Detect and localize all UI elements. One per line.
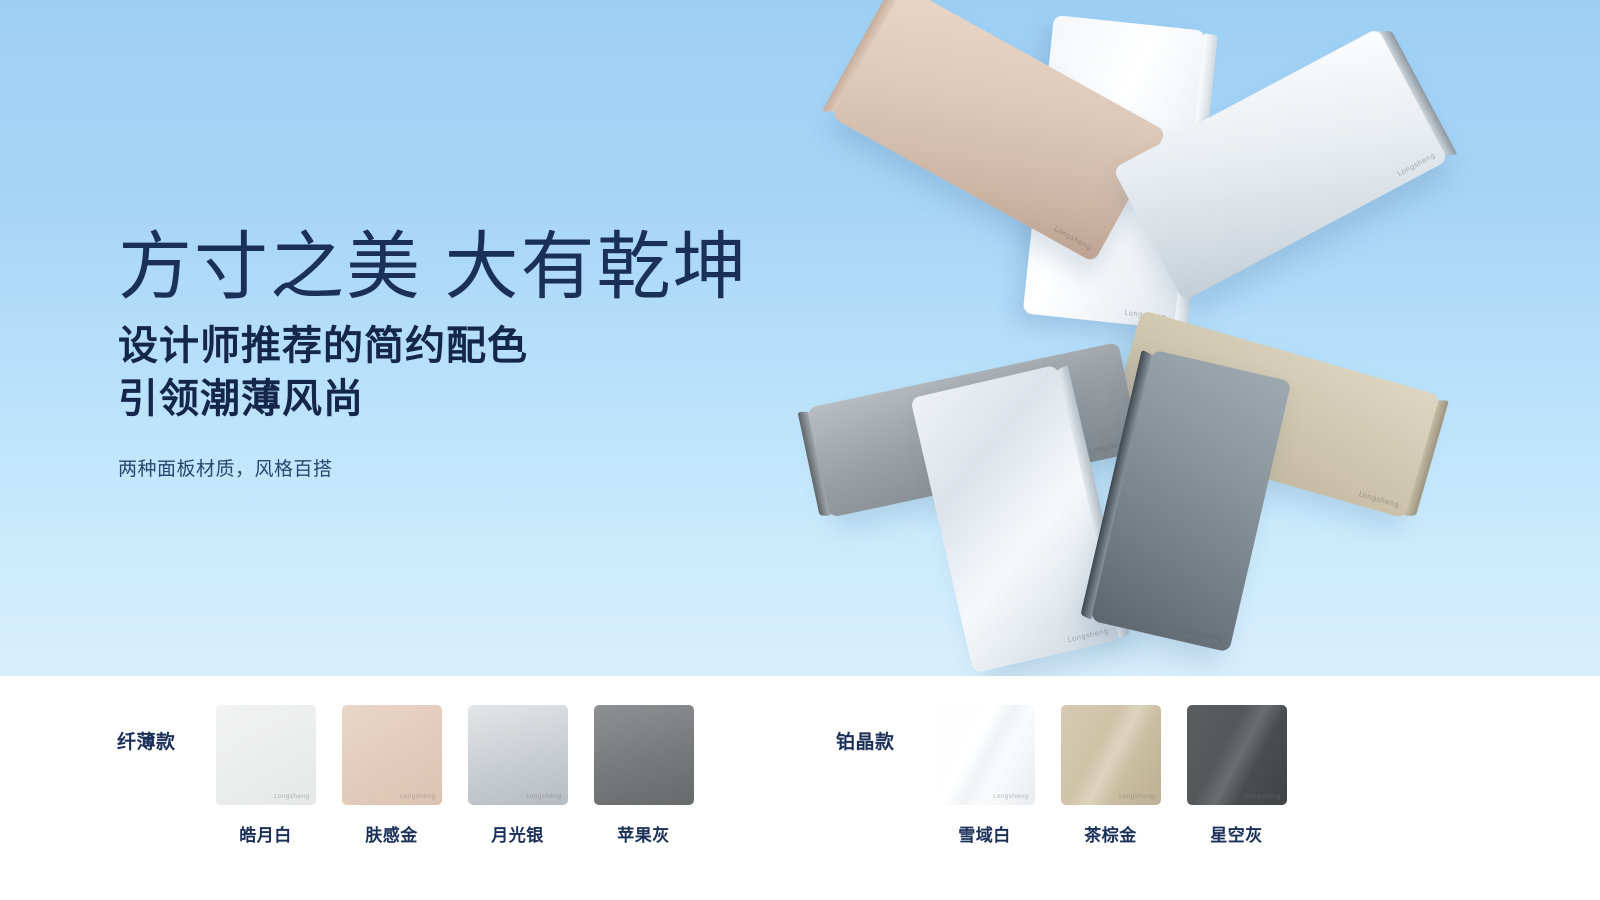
hero-section: 方寸之美 大有乾坤 设计师推荐的简约配色 引领潮薄风尚 两种面板材质，风格百搭 … [0,0,1600,676]
brand-watermark: Longsheng [1396,151,1437,178]
swatch-list: Longsheng雪域白Longsheng茶棕金Longsheng星空灰 [922,705,1300,846]
swatch-item[interactable]: Longsheng苹果灰 [581,705,707,846]
swatch-name: 苹果灰 [617,821,670,846]
color-swatch-strip: 纤薄款 Longsheng皓月白Longsheng肤感金Longsheng月光银… [0,676,1600,900]
product-pinwheel-image: Longsheng Longsheng Longsheng Longsheng [790,10,1490,670]
brand-watermark: Longsheng [652,793,687,800]
swatch-name: 月光银 [491,821,544,846]
product-banner: 方寸之美 大有乾坤 设计师推荐的简约配色 引领潮薄风尚 两种面板材质，风格百搭 … [0,0,1600,900]
swatch-item[interactable]: Longsheng皓月白 [203,705,329,846]
swatch-name: 星空灰 [1210,821,1263,846]
swatch-item[interactable]: Longsheng肤感金 [329,705,455,846]
swatch-list: Longsheng皓月白Longsheng肤感金Longsheng月光银Long… [203,705,707,846]
hero-subheading: 设计师推荐的简约配色 引领潮薄风尚 [118,320,878,426]
swatch-item[interactable]: Longsheng茶棕金 [1048,705,1174,846]
swatch-name: 茶棕金 [1084,821,1137,846]
brand-watermark: Longsheng [1181,626,1224,643]
swatch-chip[interactable]: Longsheng [935,705,1035,805]
hero-caption: 两种面板材质，风格百搭 [118,454,878,481]
swatch-chip[interactable]: Longsheng [1187,705,1287,805]
swatch-item[interactable]: Longsheng雪域白 [922,705,1048,846]
swatch-group-label: 纤薄款 [117,727,176,754]
brand-watermark: Longsheng [1245,793,1280,800]
brand-watermark: Longsheng [1119,793,1154,800]
hero-copy-block: 方寸之美 大有乾坤 设计师推荐的简约配色 引领潮薄风尚 两种面板材质，风格百搭 [118,228,878,481]
brand-watermark: Longsheng [1067,627,1110,644]
hero-subheading-line-2: 引领潮薄风尚 [118,373,878,426]
swatch-chip[interactable]: Longsheng [216,705,316,805]
brand-watermark: Longsheng [526,793,561,800]
swatch-group-crystal: 铂晶款 Longsheng雪域白Longsheng茶棕金Longsheng星空灰 [836,705,1300,846]
swatch-name: 皓月白 [239,821,292,846]
brand-watermark: Longsheng [400,793,435,800]
hero-subheading-line-1: 设计师推荐的简约配色 [118,320,878,373]
swatch-chip[interactable]: Longsheng [1061,705,1161,805]
brand-watermark: Longsheng [274,793,309,800]
brand-watermark: Longsheng [1358,490,1400,509]
swatch-group-slim: 纤薄款 Longsheng皓月白Longsheng肤感金Longsheng月光银… [117,705,707,846]
swatch-item[interactable]: Longsheng月光银 [455,705,581,846]
swatch-group-label: 铂晶款 [836,727,895,754]
swatch-name: 肤感金 [365,821,418,846]
swatch-chip[interactable]: Longsheng [594,705,694,805]
swatch-name: 雪域白 [958,821,1011,846]
page-title: 方寸之美 大有乾坤 [118,228,878,306]
swatch-item[interactable]: Longsheng星空灰 [1174,705,1300,846]
swatch-chip[interactable]: Longsheng [342,705,442,805]
swatch-chip[interactable]: Longsheng [468,705,568,805]
brand-watermark: Longsheng [993,793,1028,800]
